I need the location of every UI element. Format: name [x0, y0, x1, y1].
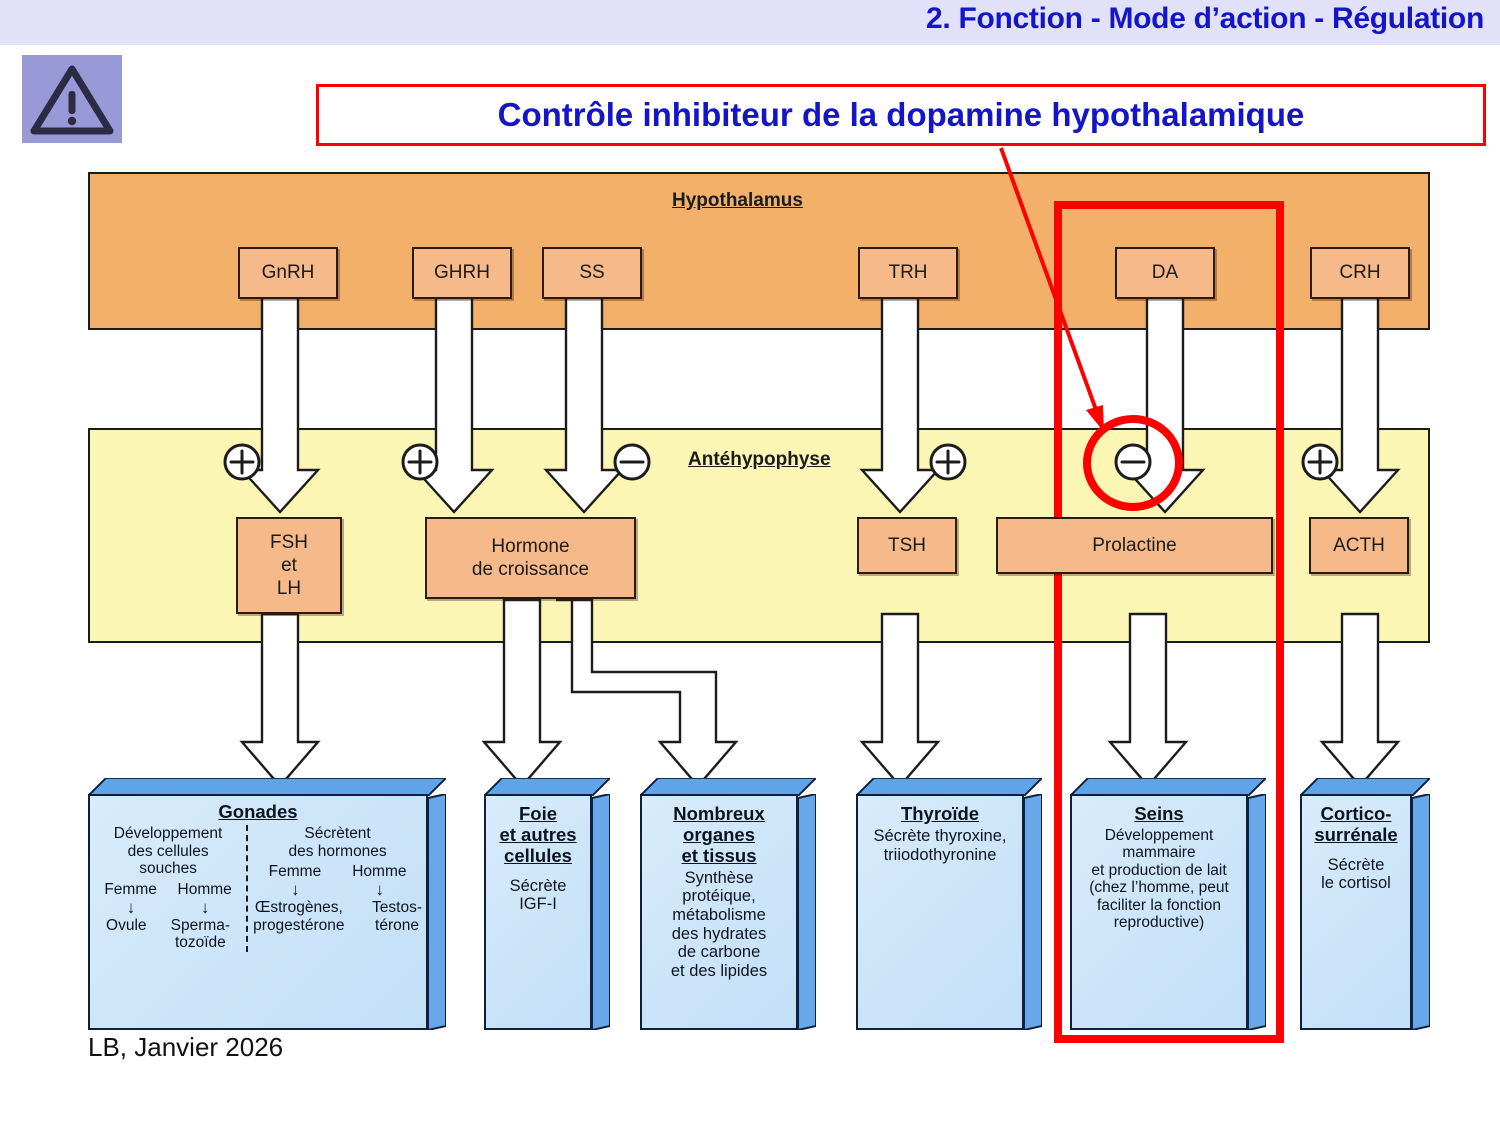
- tbox-thyroide[interactable]: Thyroïde Sécrète thyroxine, triiodothyro…: [856, 778, 1042, 1030]
- page-title: 2. Fonction - Mode d’action - Régulation: [926, 2, 1484, 36]
- hbox-acth-label: ACTH: [1333, 534, 1385, 557]
- gonades-right-l1: Sécrètent: [253, 825, 422, 843]
- tbox-organes-body: Synthèse protéique, métabolisme des hydr…: [648, 869, 790, 981]
- tbox-seins-body: Développement mammaire et production de …: [1078, 827, 1240, 932]
- tbox-organes-side-face: [798, 794, 816, 1030]
- warning-triangle-icon: [22, 55, 122, 143]
- band-label-hypothalamus: Hypothalamus: [672, 190, 803, 212]
- gonades-right-l2: des hormones: [253, 843, 422, 861]
- gonades-left-homme: Homme: [178, 881, 232, 899]
- tbox-foie-title: Foie et autres cellules: [492, 804, 584, 867]
- gonades-right-homme: Homme: [352, 863, 406, 881]
- hbox-prolactine-label: Prolactine: [1092, 534, 1177, 557]
- callout-text: Contrôle inhibiteur de la dopamine hypot…: [498, 96, 1305, 134]
- gonades-left-out-homme: Sperma- tozoïde: [171, 917, 230, 952]
- tbox-foie-body: Sécrète IGF-I: [492, 877, 584, 914]
- tbox-foie-face: Foie et autres cellules Sécrète IGF-I: [484, 794, 592, 1030]
- callout-box: Contrôle inhibiteur de la dopamine hypot…: [316, 84, 1486, 146]
- hbox-da-label: DA: [1152, 261, 1178, 284]
- gonades-right-out-femme: Œstrogènes, progestérone: [253, 899, 344, 934]
- tbox-thyroide-body: Sécrète thyroxine, triiodothyronine: [864, 827, 1016, 864]
- tbox-foie[interactable]: Foie et autres cellules Sécrète IGF-I: [484, 778, 610, 1030]
- tbox-gonades-side-face: [428, 794, 446, 1030]
- gonades-left-femme: Femme: [104, 881, 157, 899]
- tbox-thyroide-face: Thyroïde Sécrète thyroxine, triiodothyro…: [856, 794, 1024, 1030]
- tbox-seins-face: Seins Développement mammaire et producti…: [1070, 794, 1248, 1030]
- tbox-thyroide-title: Thyroïde: [864, 804, 1016, 825]
- hbox-ss[interactable]: SS: [542, 247, 642, 299]
- tbox-corticosurrenale-body: Sécrète le cortisol: [1308, 856, 1404, 893]
- gonades-right-arrow-homme-icon: ↓: [376, 881, 385, 898]
- hbox-acth[interactable]: ACTH: [1309, 517, 1409, 574]
- hbox-crh[interactable]: CRH: [1310, 247, 1410, 299]
- hbox-prolactine[interactable]: Prolactine: [996, 517, 1273, 574]
- tbox-gonades-face: Gonades Développement des cellules souch…: [88, 794, 428, 1030]
- tbox-organes-face: Nombreux organes et tissus Synthèse prot…: [640, 794, 798, 1030]
- hbox-trh-label: TRH: [888, 261, 927, 284]
- tbox-corticosurrenale-face: Cortico- surrénale Sécrète le cortisol: [1300, 794, 1412, 1030]
- tbox-organes[interactable]: Nombreux organes et tissus Synthèse prot…: [640, 778, 816, 1030]
- footer-credit: LB, Janvier 2026: [88, 1032, 283, 1063]
- hbox-ss-label: SS: [579, 261, 604, 284]
- hbox-da[interactable]: DA: [1115, 247, 1215, 299]
- gonades-right-out-homme: Testos- térone: [372, 899, 422, 934]
- tbox-seins-side-face: [1248, 794, 1266, 1030]
- gonades-left-l1: Développement: [94, 825, 242, 843]
- hbox-hormone-croissance[interactable]: Hormone de croissance: [425, 517, 636, 599]
- hbox-ghrh-label: GHRH: [434, 261, 490, 284]
- tbox-seins[interactable]: Seins Développement mammaire et producti…: [1070, 778, 1266, 1030]
- gonades-left-l3: souches: [94, 860, 242, 878]
- tbox-thyroide-side-face: [1024, 794, 1042, 1030]
- tbox-corticosurrenale[interactable]: Cortico- surrénale Sécrète le cortisol: [1300, 778, 1430, 1030]
- tbox-gonades-title: Gonades: [94, 802, 422, 823]
- hbox-crh-label: CRH: [1339, 261, 1380, 284]
- tbox-seins-title: Seins: [1078, 804, 1240, 825]
- hbox-fsh-lh-label: FSH et LH: [270, 531, 308, 601]
- hbox-tsh[interactable]: TSH: [857, 517, 957, 574]
- tbox-gonades[interactable]: Gonades Développement des cellules souch…: [88, 778, 446, 1030]
- hbox-gnrh-label: GnRH: [262, 261, 315, 284]
- gonades-left-l2: des cellules: [94, 843, 242, 861]
- gonades-left-out-femme: Ovule: [106, 917, 147, 952]
- hbox-fsh-lh[interactable]: FSH et LH: [236, 517, 342, 614]
- hbox-gnrh[interactable]: GnRH: [238, 247, 338, 299]
- gonades-left-arrow-homme-icon: ↓: [201, 899, 210, 916]
- gonades-left-column: Développement des cellules souches Femme…: [94, 825, 248, 952]
- tbox-corticosurrenale-side-face: [1412, 794, 1430, 1030]
- gonades-right-arrow-femme-icon: ↓: [291, 881, 300, 898]
- tbox-foie-side-face: [592, 794, 610, 1030]
- hbox-tsh-label: TSH: [888, 534, 926, 557]
- tbox-organes-title: Nombreux organes et tissus: [648, 804, 790, 867]
- tbox-corticosurrenale-title: Cortico- surrénale: [1308, 804, 1404, 846]
- hbox-ghrh[interactable]: GHRH: [412, 247, 512, 299]
- gonades-left-arrow-femme-icon: ↓: [127, 899, 136, 916]
- hbox-hormone-croissance-label: Hormone de croissance: [472, 535, 589, 581]
- gonades-right-column: Sécrètent des hormones Femme Homme ↓ ↓ Œ…: [248, 825, 422, 934]
- gonades-right-femme: Femme: [269, 863, 322, 881]
- band-label-antehypophyse: Antéhypophyse: [688, 449, 831, 471]
- hbox-trh[interactable]: TRH: [858, 247, 958, 299]
